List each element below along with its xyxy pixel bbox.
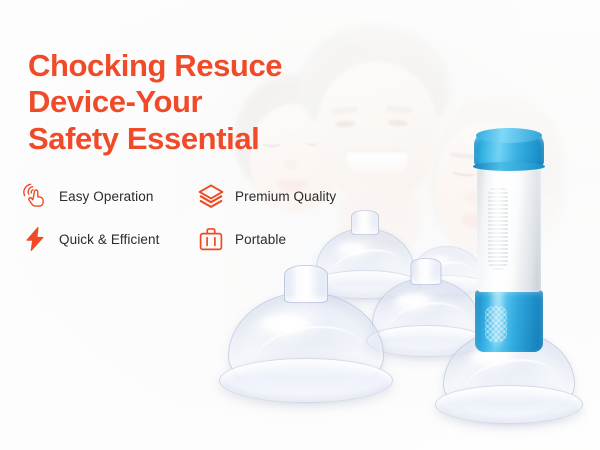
mask-neck-port [284,265,328,303]
feature-list: Easy Operation Premium Quality Quick & E… [22,183,336,252]
mask-front [228,292,384,396]
device-highlight [492,170,503,346]
mask-glint [338,243,367,254]
mask-rim [219,358,394,404]
product-advertisement: Chocking Resuce Device-Your Safety Essen… [0,0,600,450]
feature-premium-quality: Premium Quality [198,183,336,209]
feature-label: Premium Quality [235,189,336,204]
tap-gesture-icon [22,183,48,209]
briefcase-icon [198,226,224,252]
mask-glint [396,294,428,307]
mask-rim [435,385,583,424]
layers-icon [198,183,224,209]
mask-neck-port [351,210,379,235]
feature-quick-efficient: Quick & Efficient [22,226,198,252]
device-body [477,166,541,292]
lightning-bolt-icon [22,226,48,252]
mask-glint [262,315,309,333]
device-cap-top [476,128,542,143]
feature-easy-operation: Easy Operation [22,183,198,209]
feature-label: Easy Operation [59,189,153,204]
feature-label: Portable [235,232,286,247]
feature-label: Quick & Efficient [59,232,160,247]
choking-rescue-device [470,132,548,360]
mask-neck-port [411,258,442,285]
headline: Chocking Resuce Device-Your Safety Essen… [28,48,282,157]
device-cap-ring [473,162,545,171]
